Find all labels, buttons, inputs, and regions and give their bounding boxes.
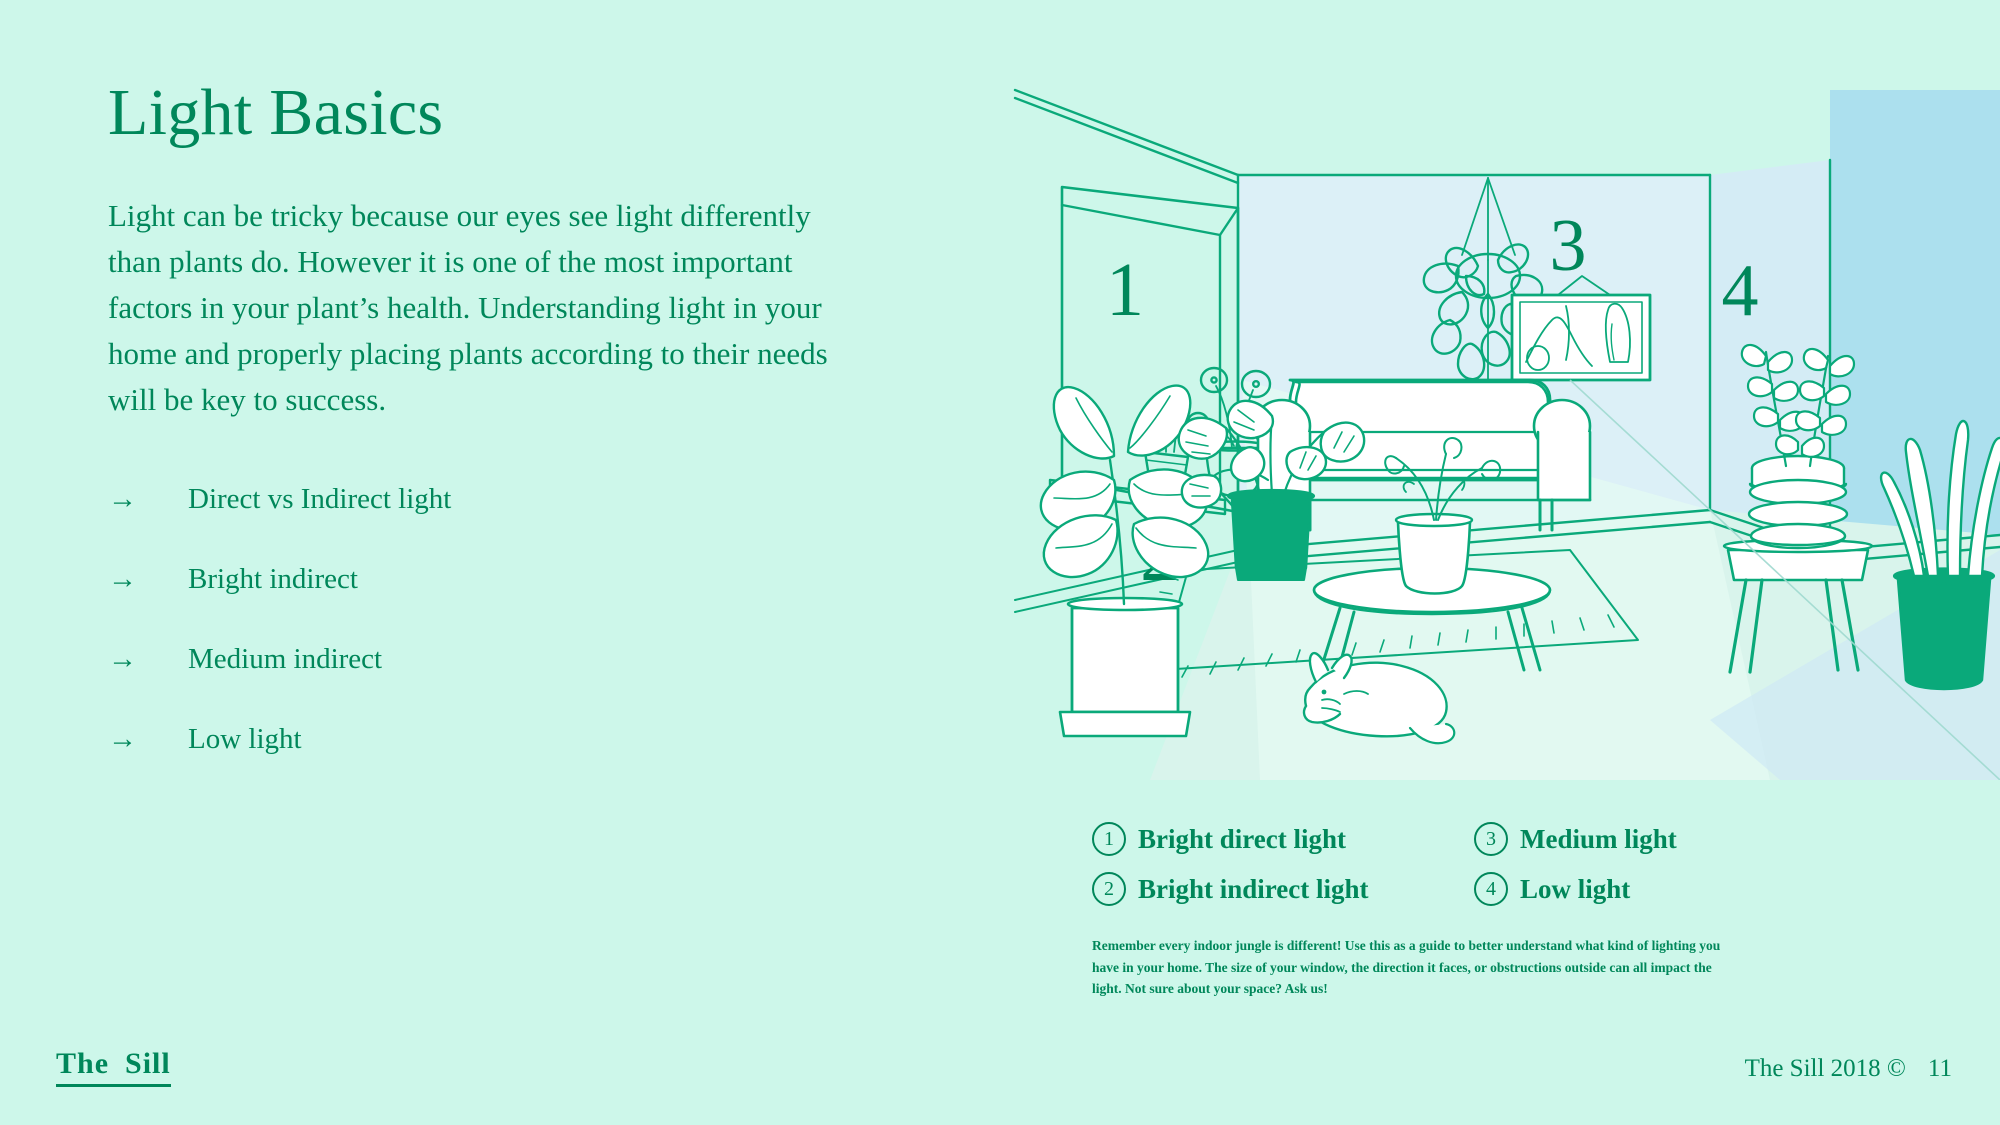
arrow-right-icon: →: [108, 725, 188, 754]
legend-label: Medium light: [1520, 824, 1677, 855]
list-item-label: Low light: [188, 725, 302, 754]
logo-word-the: The: [56, 1047, 109, 1080]
light-legend: 1 Bright direct light 3 Medium light 2 B…: [1092, 822, 1792, 906]
legend-number-icon: 2: [1092, 872, 1126, 906]
list-item-label: Bright indirect: [188, 565, 358, 594]
arrow-right-icon: →: [108, 485, 188, 514]
legend-number-icon: 4: [1474, 872, 1508, 906]
room-illustration: 1: [1010, 80, 2000, 780]
legend-label: Bright indirect light: [1138, 874, 1369, 905]
footer-right: The Sill 2018 ©11: [1745, 1055, 1952, 1083]
legend-number-icon: 3: [1474, 822, 1508, 856]
list-item[interactable]: → Bright indirect: [108, 565, 868, 594]
slide-light-basics: Light Basics Light can be tricky because…: [0, 0, 2000, 1125]
list-item-label: Medium indirect: [188, 645, 382, 674]
page-number: 11: [1928, 1055, 1952, 1082]
arrow-right-icon: →: [108, 645, 188, 674]
legend-footnote: Remember every indoor jungle is differen…: [1092, 935, 1732, 1000]
legend-item-1: 1 Bright direct light: [1092, 822, 1474, 856]
legend-item-3: 3 Medium light: [1474, 822, 1792, 856]
marker-3: 3: [1550, 205, 1587, 287]
logo-word-sill: Sill: [125, 1047, 171, 1080]
legend-label: Bright direct light: [1138, 824, 1346, 855]
legend-item-2: 2 Bright indirect light: [1092, 872, 1474, 906]
arrow-right-icon: →: [108, 565, 188, 594]
list-item[interactable]: → Direct vs Indirect light: [108, 485, 868, 514]
copyright-text: The Sill 2018 ©: [1745, 1055, 1906, 1082]
left-content-column: Light Basics Light can be tricky because…: [108, 78, 868, 805]
marker-4: 4: [1722, 250, 1759, 332]
list-item[interactable]: → Low light: [108, 725, 868, 754]
legend-item-4: 4 Low light: [1474, 872, 1792, 906]
intro-paragraph: Light can be tricky because our eyes see…: [108, 193, 828, 422]
list-item[interactable]: → Medium indirect: [108, 645, 868, 674]
page-title: Light Basics: [108, 78, 868, 147]
marker-1: 1: [1106, 248, 1144, 332]
legend-number-icon: 1: [1092, 822, 1126, 856]
legend-label: Low light: [1520, 874, 1630, 905]
topic-list: → Direct vs Indirect light → Bright indi…: [108, 485, 868, 754]
list-item-label: Direct vs Indirect light: [188, 485, 451, 514]
brand-logo[interactable]: TheSill: [56, 1047, 171, 1087]
